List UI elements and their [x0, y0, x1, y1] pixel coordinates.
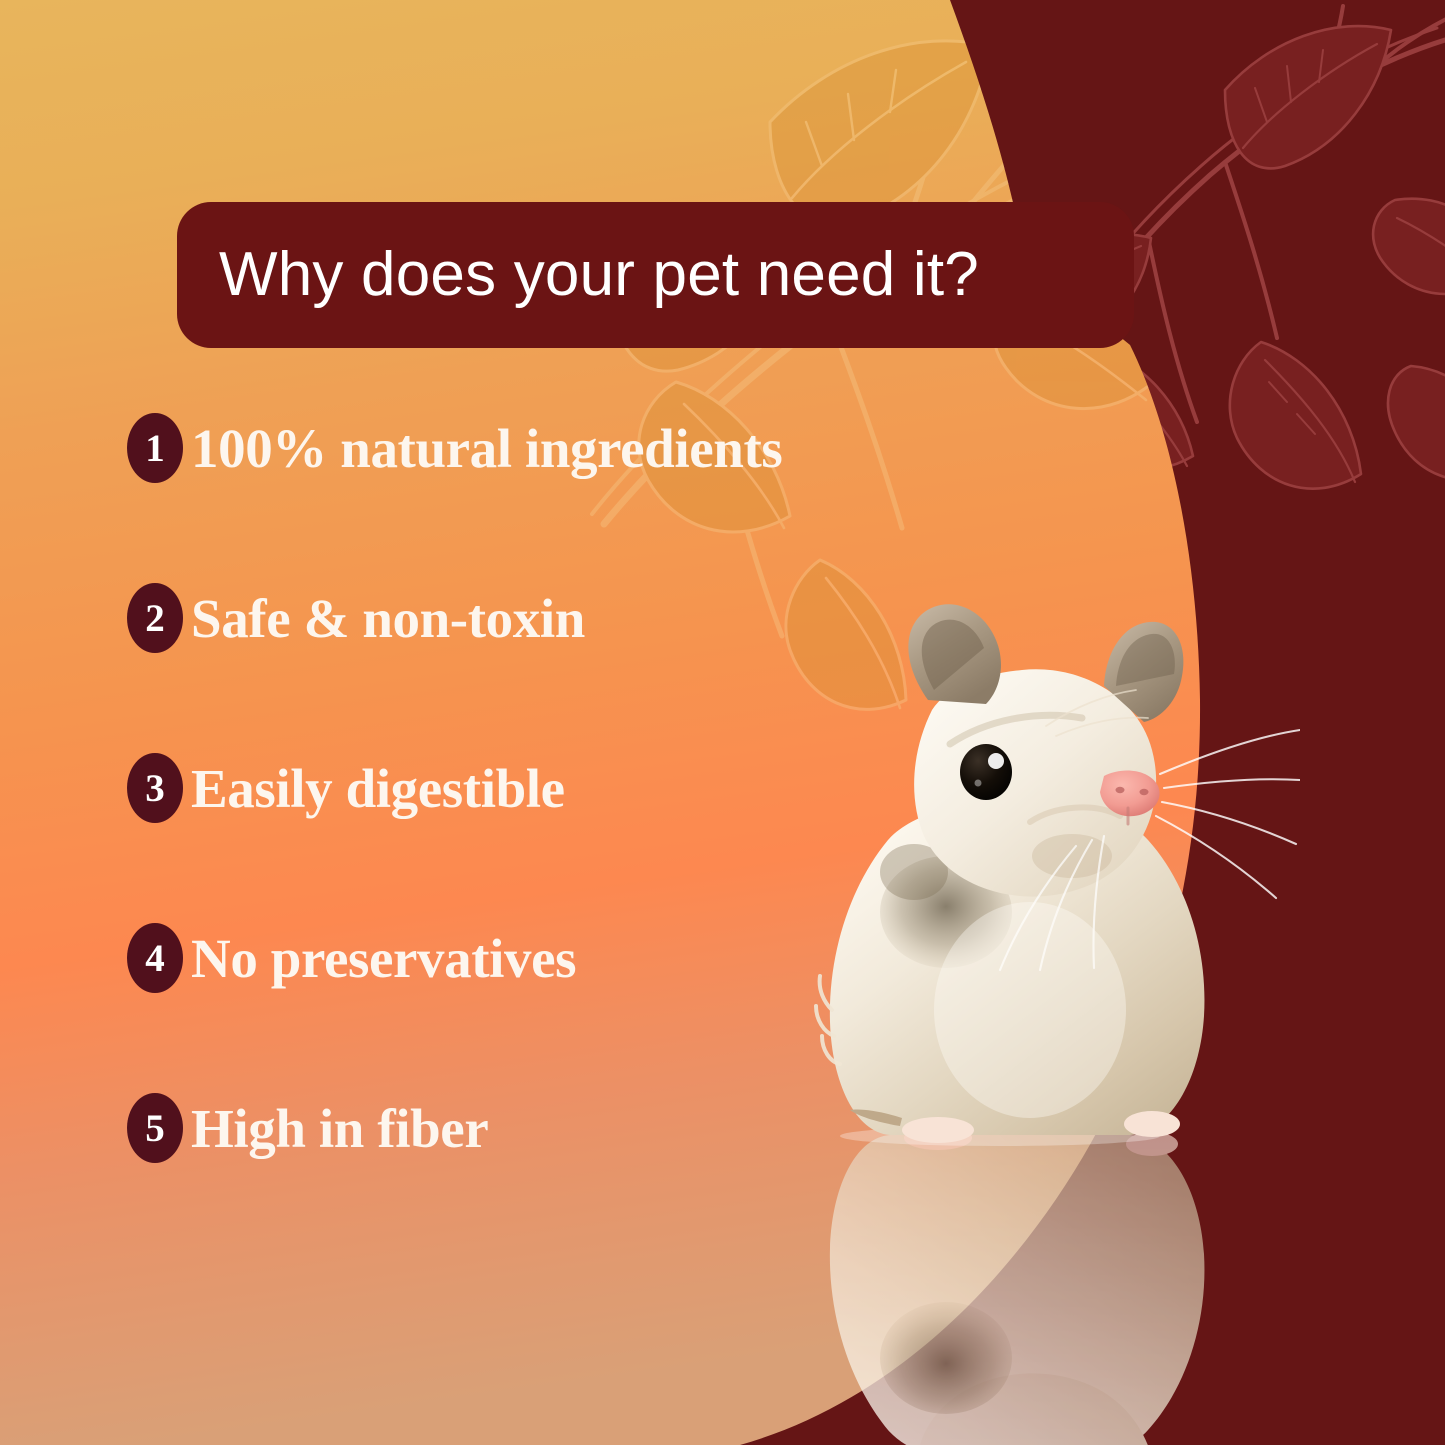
- benefit-label: High in fiber: [191, 1101, 488, 1156]
- benefit-list: 1 100% natural ingredients 2 Safe & non-…: [0, 404, 760, 1172]
- benefit-label: Easily digestible: [191, 761, 565, 816]
- list-item: 5 High in fiber: [0, 1084, 760, 1172]
- promotional-poster: Why does your pet need it? 1 100% natura…: [0, 0, 1445, 1445]
- list-item: 4 No preservatives: [0, 914, 760, 1002]
- number-badge: 4: [127, 923, 183, 993]
- number-badge: 5: [127, 1093, 183, 1163]
- list-item: 1 100% natural ingredients: [0, 404, 760, 492]
- benefit-label: 100% natural ingredients: [191, 421, 782, 476]
- list-item: 3 Easily digestible: [0, 744, 760, 832]
- benefit-label: Safe & non-toxin: [191, 591, 585, 646]
- number-badge: 2: [127, 583, 183, 653]
- title-badge: Why does your pet need it?: [177, 202, 1134, 348]
- number-badge: 1: [127, 413, 183, 483]
- benefit-label: No preservatives: [191, 931, 576, 986]
- number-badge: 3: [127, 753, 183, 823]
- page-title: Why does your pet need it?: [219, 244, 979, 306]
- list-item: 2 Safe & non-toxin: [0, 574, 760, 662]
